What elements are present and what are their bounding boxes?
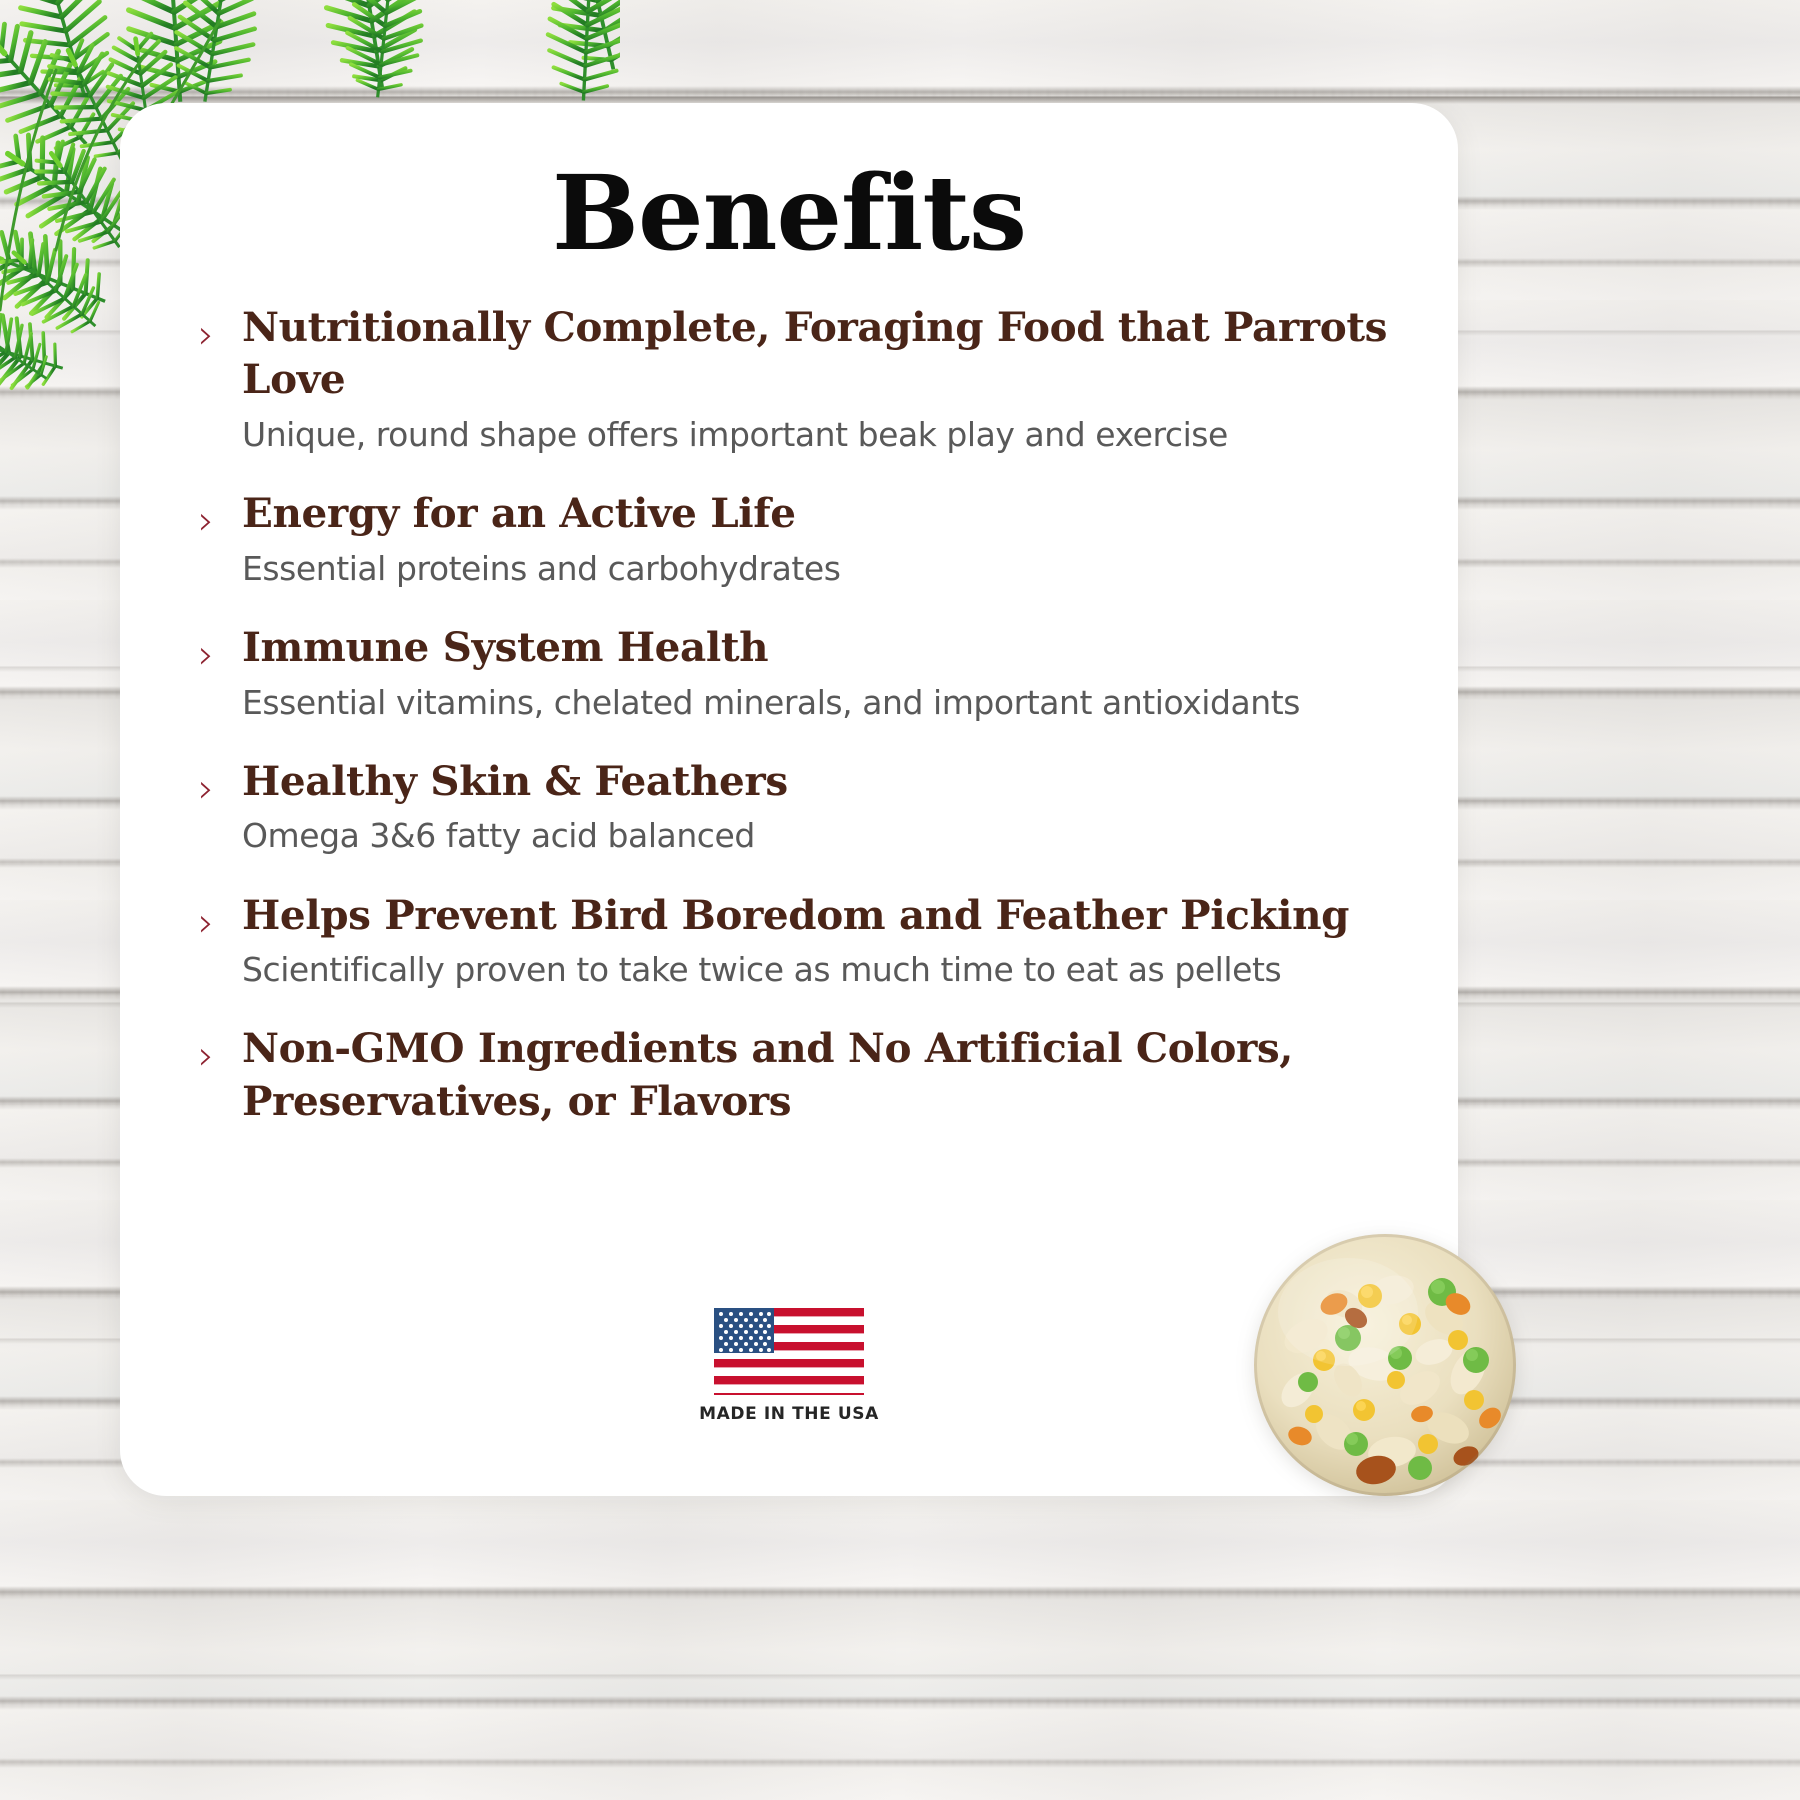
benefits-list: › Nutritionally Complete, Foraging Food …	[120, 301, 1458, 1128]
benefit-heading: Energy for an Active Life	[242, 487, 1388, 540]
chevron-right-icon: ›	[198, 487, 238, 541]
benefit-item: › Nutritionally Complete, Foraging Food …	[198, 301, 1388, 458]
benefit-body: Nutritionally Complete, Foraging Food th…	[238, 301, 1388, 458]
page-title: Benefits	[120, 153, 1458, 275]
benefit-body: Energy for an Active Life Essential prot…	[238, 487, 1388, 591]
benefit-heading: Helps Prevent Bird Boredom and Feather P…	[242, 889, 1388, 942]
benefit-item: › Helps Prevent Bird Boredom and Feather…	[198, 889, 1388, 993]
benefit-heading: Nutritionally Complete, Foraging Food th…	[242, 301, 1388, 406]
benefit-body: Helps Prevent Bird Boredom and Feather P…	[238, 889, 1388, 993]
benefit-subtext: Essential proteins and carbohydrates	[242, 547, 1388, 591]
chevron-right-icon: ›	[198, 621, 238, 675]
benefit-item: › Immune System Health Essential vitamin…	[198, 621, 1388, 725]
benefit-subtext: Essential vitamins, chelated minerals, a…	[242, 681, 1388, 725]
made-in-usa-label: MADE IN THE USA	[699, 1404, 879, 1424]
benefit-subtext: Unique, round shape offers important bea…	[242, 413, 1388, 457]
benefit-subtext: Scientifically proven to take twice as m…	[242, 948, 1388, 992]
chevron-right-icon: ›	[198, 1022, 238, 1076]
benefit-body: Healthy Skin & Feathers Omega 3&6 fatty …	[238, 755, 1388, 859]
benefit-item: › Non-GMO Ingredients and No Artificial …	[198, 1022, 1388, 1127]
benefit-item: › Energy for an Active Life Essential pr…	[198, 487, 1388, 591]
benefit-body: Non-GMO Ingredients and No Artificial Co…	[238, 1022, 1388, 1127]
chevron-right-icon: ›	[198, 755, 238, 809]
chevron-right-icon: ›	[198, 889, 238, 943]
benefit-heading: Immune System Health	[242, 621, 1388, 674]
benefit-heading: Healthy Skin & Feathers	[242, 755, 1388, 808]
benefit-heading: Non-GMO Ingredients and No Artificial Co…	[242, 1022, 1388, 1127]
benefit-body: Immune System Health Essential vitamins,…	[238, 621, 1388, 725]
benefits-card: Benefits › Nutritionally Complete, Forag…	[120, 103, 1458, 1496]
benefit-subtext: Omega 3&6 fatty acid balanced	[242, 814, 1388, 858]
benefit-item: › Healthy Skin & Feathers Omega 3&6 fatt…	[198, 755, 1388, 859]
bird-food-foraging-ball-image	[1252, 1232, 1518, 1498]
usa-flag-icon	[714, 1305, 864, 1395]
chevron-right-icon: ›	[198, 301, 238, 355]
